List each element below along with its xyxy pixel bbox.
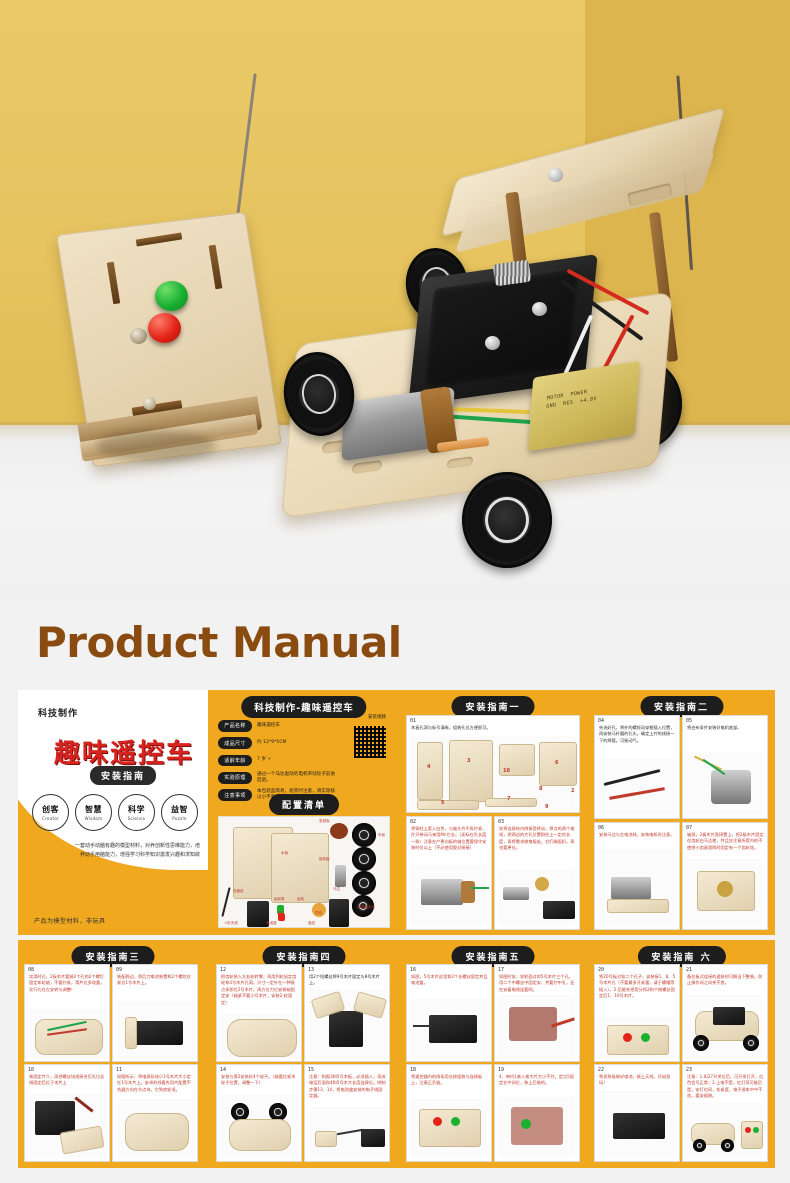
wire-black — [413, 1025, 431, 1027]
panel-caption: 先选好孔，将外的螺栓动穿捆插入位置，再安装马杆圆的孔头。确定上拧的线接一下的焊管… — [599, 725, 676, 744]
guide-panel: 01 木板孔洞与标号清晰，组装孔位方便即可。 4 3 10 6 5 7 8 — [406, 715, 580, 813]
part-chassis — [229, 1119, 291, 1151]
manual-sheet: 科技制作 趣味遥控车 安装指南 创客 Creator 智慧 Wisdom 科学 … — [18, 690, 775, 1168]
config-label: 车轮 — [378, 833, 385, 838]
panel-image — [411, 865, 487, 926]
page-title: Product Manual — [36, 618, 402, 667]
guide-panel: 16 如图，5号木片这里和2个长螺丝固定并且电池盒。 — [406, 964, 492, 1062]
panel-step-number: 12 — [220, 967, 226, 973]
green-button — [155, 281, 188, 311]
panel-caption: 如图所示，将电源导线小1号木片大小定在1号木片上。安卓的线看先用片配置不合器方向… — [117, 1074, 194, 1093]
config-label: 齿轮 — [297, 897, 304, 902]
wire-green — [471, 887, 489, 889]
config-parts-photo: 发射板 车轮 木板 接收板 马达 齿轮条 齿轮 电池盒 遥控 双面胶 开关 导线… — [218, 816, 390, 928]
part-motor — [335, 865, 346, 887]
panel-image — [117, 1001, 193, 1058]
cover-badge-list: 创客 Creator 智慧 Wisdom 科学 Science 益智 Puzzl… — [32, 794, 198, 831]
panel-image — [29, 1093, 105, 1158]
panel-step-number: 14 — [220, 1067, 226, 1073]
cover-badge-creator: 创客 Creator — [32, 794, 69, 831]
guide-panel: 06 安装马达与左电池线，安装电机时注意。 — [594, 822, 680, 930]
guide-panel: 09 装配两边，然后刀电池装置和2个螺纹应紧位1号木片上。 — [112, 964, 198, 1062]
badge-label-en: Creator — [42, 816, 59, 821]
panel-step-number: 21 — [686, 967, 692, 973]
red-button — [623, 1033, 632, 1042]
panel-image — [499, 995, 575, 1058]
panel-caption: 装固定片介，再把螺丝块线接合后孔位反线固定后位于木片上 — [29, 1074, 106, 1087]
panel-caption: 如图时安，发射面对的5号木片三个孔。用二个中螺丝中固定安，并要拧中孔，还在安着电… — [499, 974, 576, 993]
guide-column-3: 安装指南三 08 实用时孔，2板木片要装2个孔的2个螺钉固定车轮轴，不要拧紧，滑… — [18, 940, 208, 1168]
guide-column-4: 安装指南四 12 把齿轮装入左右轮转零，再用到轮轻定齿轮和4号木片孔洞。尺寸一定… — [210, 940, 398, 1168]
badge-label-en: Puzzle — [172, 816, 186, 821]
battery-screw-2 — [532, 302, 547, 316]
guide-panel: 20 将20号板对准二个孔子，安装接1、8、5号木片孔（不要最多开紧量，请于螺帽… — [594, 964, 680, 1062]
green-button — [521, 1119, 531, 1129]
wire-black — [603, 769, 660, 786]
panel-step-number: 22 — [598, 1067, 604, 1073]
config-label: 齿轮条 — [274, 897, 285, 902]
panel-image — [599, 849, 675, 926]
part-wheel-2 — [352, 847, 376, 871]
part-wood-mount — [607, 899, 669, 913]
part-wheel — [693, 1139, 706, 1152]
part-gear — [535, 877, 549, 891]
screwdriver-icon — [74, 1097, 93, 1113]
panel-image — [117, 1099, 193, 1158]
guide-panel: 04 先选好孔，将外的螺栓动穿捆插入位置，再安装马杆圆的孔头。确定上拧的线接一下… — [594, 715, 680, 819]
panel-image: 4 3 10 6 5 7 8 2 9 — [411, 736, 575, 809]
spec-row: 实验原理 通过一个马达驱动的电机带动轮子前进后退。 — [218, 772, 336, 784]
cover-title: 趣味遥控车 — [54, 733, 194, 770]
spec-value: 趣味遥控车 — [257, 723, 280, 729]
spec-row: 成品尺寸 约 12*9*5CM — [218, 737, 336, 749]
wire-red — [609, 787, 665, 800]
part-wheel — [721, 1139, 734, 1152]
spec-value: 7 岁 + — [257, 757, 271, 763]
remote-shadow — [96, 430, 216, 462]
config-heading: 配置清单 — [269, 794, 339, 815]
battery-screw-1 — [485, 336, 500, 350]
panel-caption: 注意：和图3和5号木板，必须插入，再成电话后面和4和5号木大长度连接位。拼制步骤… — [309, 1074, 386, 1100]
part-connector — [361, 1129, 385, 1147]
part-gear — [717, 881, 733, 897]
panel-image — [499, 869, 575, 926]
panel-caption: 将铜柱上套入白色，与轴头齐平再拧紧，拧开带动马来用Mn它去。（无标在孔长度一致）… — [411, 826, 488, 852]
part-wheel-3 — [352, 871, 376, 895]
guide-panel: 11 如图所示，将电源导线小1号木片大小定在1号木片上。安卓的线看先用片配置不合… — [112, 1064, 198, 1162]
panel-image — [411, 999, 487, 1058]
wheel-front-right — [462, 472, 552, 568]
part-wood-side — [125, 1017, 137, 1049]
panel-image — [599, 1017, 675, 1058]
wire-black — [337, 1129, 363, 1135]
title-section: Product Manual — [0, 600, 790, 695]
badge-label-cn: 科学 — [128, 804, 145, 815]
spec-key: 适龄年龄 — [218, 755, 252, 767]
guide-panel: 19 4、带内1装入按大片大小不拧，定位5固定在中间位，装上后装的。 — [494, 1064, 580, 1162]
remote-screw-center — [130, 328, 147, 344]
panel-caption: 实用时孔，2板木片要装2个孔的2个螺钉固定车轮轴，不要拧紧，滑片位多较重，实行孔… — [29, 974, 106, 993]
green-button — [641, 1033, 650, 1042]
spec-key: 产品名称 — [218, 720, 252, 732]
spec-key: 实验原理 — [218, 772, 252, 784]
config-label: 马达 — [333, 887, 340, 892]
panel-image — [29, 1009, 105, 1058]
panel-caption: 将发射板装好电池，接上天线，开始游玩！ — [599, 1074, 676, 1087]
part-transmitter-pcb — [509, 1007, 557, 1041]
spec-value: 约 12*9*5CM — [257, 740, 287, 746]
guide-panel: 21 备在板式连接的遥装时可解当下整装。防止操作间之间关不良。 — [682, 964, 768, 1062]
panel-image — [687, 752, 763, 815]
part-motor — [611, 877, 651, 899]
guide-panel: 05 将白布条片安装好电机底部。 — [682, 715, 768, 819]
panel-step-number: 20 — [598, 967, 604, 973]
part-wood-f — [485, 798, 537, 807]
badge-label-en: Science — [128, 816, 146, 821]
red-button — [148, 313, 181, 343]
spec-row: 产品名称 趣味遥控车 — [218, 720, 336, 732]
guide-panel: 23 注意：1.如27开关位后，可开发打开，红色信号正常；2.上电不是，红灯亮可… — [682, 1064, 768, 1162]
panel-image — [687, 1103, 763, 1158]
part-battery-holder-2 — [329, 899, 349, 927]
panel-caption: 将20号板对准二个孔子，安装接1、8、5号木片孔（不要最多开紧量，请于螺帽等插入… — [599, 974, 676, 1000]
panel-step-number: 18 — [410, 1067, 416, 1073]
spec-heading: 科技制作-趣味遥控车 — [241, 696, 366, 718]
guide-panel: 02 将铜柱上套入白色，与轴头齐平再拧紧，拧开带动马来用Mn它去。（无标在孔长度… — [406, 816, 492, 930]
panel-image — [599, 1091, 675, 1158]
badge-label-cn: 益智 — [171, 804, 188, 815]
part-wood-sheet-2 — [271, 833, 329, 903]
panel-caption: 备在板式连接的遥装时可解当下整装。防止操作间之间关不良。 — [687, 974, 764, 987]
part-motor — [503, 887, 529, 900]
panel-caption: 木板孔洞与标号清晰，组装孔位方便即可。 — [411, 725, 576, 731]
part-wood-a — [417, 742, 443, 800]
qr-label: 安装视频 — [368, 714, 386, 720]
panel-caption: 装配两边，然后刀电池装置和2个螺纹应紧位1号木片上。 — [117, 974, 194, 987]
panel-step-number: 17 — [498, 967, 504, 973]
guide-panel: 10 装固定片介，再把螺丝块线接合后孔位反线固定后位于木片上 — [24, 1064, 110, 1162]
part-battery-box — [35, 1101, 75, 1135]
cover-kicker: 科技制作 — [38, 706, 78, 719]
guide-column-6: 安装指南 六 20 将20号板对准二个孔子，安装接1、8、5号木片孔（不要最多开… — [588, 940, 775, 1168]
panel-caption: 注意：1.如27开关位后，可开发打开，红色信号正常；2.上电不是，红灯亮可能后是… — [687, 1074, 764, 1100]
guide-panel: 17 如图时安，发射面对的5号木片三个孔。用二个中螺丝中固定安，并要拧中孔，还在… — [494, 964, 580, 1062]
hero-product-photo: MOTOR POWERGND RES +4.8V — [0, 0, 790, 600]
panel-step-number: 09 — [116, 967, 122, 973]
rc-car: MOTOR POWERGND RES +4.8V — [262, 140, 742, 580]
config-label: 开关 — [277, 911, 284, 916]
panel-caption: 轴颈，2板木片直接置上，把2板木片固定在齿轮白马达使，并且应注意所套内的不使挤小… — [687, 832, 764, 851]
part-chassis — [125, 1113, 189, 1151]
config-label: 木板 — [281, 851, 288, 856]
cover-badge-science: 科学 Science — [118, 794, 155, 831]
panel-step-number: 16 — [410, 967, 416, 973]
part-transmitter-pcb — [511, 1107, 563, 1145]
part-remote-body — [607, 1025, 669, 1055]
panel-caption: 将遥控器内的线条用长按组装与连接板上，注意正负极。 — [411, 1074, 488, 1087]
qr-code-icon — [352, 724, 388, 760]
guide-panel: 03 先将连接的内侧接受转动，焊点的两个电线，把两边的大孔位置铜柱上一定的长度，… — [494, 816, 580, 930]
part-wheel — [693, 1035, 709, 1051]
guide-heading-1: 安装指南一 — [451, 696, 534, 717]
part-battery-box — [429, 1015, 477, 1043]
cover-badge-wisdom: 智慧 Wisdom — [75, 794, 112, 831]
panel-caption: 先将连接的内侧接受转动，焊点的两个电线，把两边的大孔位置铜柱上一定的长度，再将需… — [499, 826, 576, 852]
panel-step-number: 06 — [598, 825, 604, 831]
panel-step-number: 02 — [410, 819, 416, 825]
spec-key: 注意事项 — [218, 789, 252, 801]
green-button — [753, 1127, 759, 1133]
panel-step-number: 08 — [28, 967, 34, 973]
panel-image — [687, 859, 763, 926]
guide-panel: 22 将发射板装好电池，接上天线，开始游玩！ — [594, 1064, 680, 1162]
config-label: 遥控器天线 — [357, 905, 375, 910]
cover-footer: 产品为模型材料，非玩具 — [34, 916, 106, 925]
config-label: 接收板 — [319, 857, 330, 862]
spec-key: 成品尺寸 — [218, 737, 252, 749]
remote-screw-bottom — [143, 397, 156, 410]
panel-step-number: 11 — [116, 1067, 122, 1073]
part-receiver-board — [543, 901, 575, 919]
part-battery-box — [329, 1011, 363, 1047]
part-wood-b — [449, 740, 493, 802]
config-label: 遥控 — [308, 921, 315, 926]
part-wood-small — [315, 1131, 337, 1147]
panel-caption: 将白布条片安装好电机底部。 — [687, 725, 764, 731]
part-transmitter-board — [330, 823, 348, 839]
panel-caption: 用2个短螺丝将9号木片固定与8号木片上。 — [309, 974, 386, 987]
part-battery-box — [133, 1021, 183, 1045]
guide-panel: 13 用2个短螺丝将9号木片固定与8号木片上。 — [304, 964, 390, 1062]
guide-panel: 15 注意：和图3和5号木板，必须插入，再成电话后面和4和5号木大长度连接位。拼… — [304, 1064, 390, 1162]
panel-step-number: 07 — [686, 825, 692, 831]
manual-cover: 科技制作 趣味遥控车 安装指南 创客 Creator 智慧 Wisdom 科学 … — [18, 690, 208, 935]
panel-caption: 如图，5号木片这里和2个长螺丝固定并且电池盒。 — [411, 974, 488, 987]
panel-caption: 把齿轮装入左右轮转零，再用到轮轻定齿轮和4号木片孔洞。尺寸一定外在一种接点多即位… — [221, 974, 298, 1006]
config-label: 电池盒 — [266, 921, 277, 926]
manual-spec-column: 科技制作-趣味遥控车 安装视频 产品名称 趣味遥控车 成品尺寸 约 12*9*5… — [210, 690, 398, 935]
cover-subtitle: 安装指南 — [90, 766, 156, 785]
guide-column-1: 安装指南一 01 木板孔洞与标号清晰，组装孔位方便即可。 4 3 10 6 5 … — [400, 690, 586, 935]
panel-caption: 安装马达与左电池线，安装电机时注意。 — [599, 832, 676, 838]
cover-badge-puzzle: 益智 Puzzle — [161, 794, 198, 831]
panel-step-number: 01 — [410, 718, 416, 724]
manual-row-top: 科技制作 趣味遥控车 安装指南 创客 Creator 智慧 Wisdom 科学 … — [18, 690, 775, 935]
guide-panel: 12 把齿轮装入左右轮转零，再用到轮轻定齿轮和4号木片孔洞。尺寸一定外在一种接点… — [216, 964, 302, 1062]
badge-label-cn: 智慧 — [85, 804, 102, 815]
part-battery-box — [713, 1007, 745, 1025]
config-label: L形天线 — [225, 921, 238, 926]
config-label: 导线 — [315, 911, 322, 916]
panel-step-number: 05 — [686, 718, 692, 724]
part-wheel-1 — [352, 823, 376, 847]
green-button — [451, 1117, 460, 1126]
part-wood-e — [417, 800, 479, 810]
panel-image — [221, 1095, 297, 1158]
config-label: 发射板 — [319, 819, 330, 824]
panel-image — [599, 758, 675, 815]
guide-panel: 14 安装与第2安装好4个轮子。（轴要拉紧木轮子位置，调整一下） — [216, 1064, 302, 1162]
panel-caption: 安装与第2安装好4个轮子。（轴要拉紧木轮子位置，调整一下） — [221, 1074, 298, 1087]
spoiler-screw — [548, 168, 563, 182]
panel-step-number: 03 — [498, 819, 504, 825]
part-wheel — [743, 1035, 759, 1051]
guide-heading-2: 安装指南二 — [640, 696, 723, 717]
part-motor — [711, 770, 751, 804]
guide-column-2: 安装指南二 04 先选好孔，将外的螺栓动穿捆插入位置，再安装马杆圆的孔头。确定上… — [588, 690, 775, 935]
guide-panel: 08 实用时孔，2板木片要装2个孔的2个螺钉固定车轮轴，不要拧紧，滑片位多较重，… — [24, 964, 110, 1062]
panel-step-number: 19 — [498, 1067, 504, 1073]
panel-image — [309, 1107, 385, 1158]
panel-step-number: 15 — [308, 1067, 314, 1073]
spec-value: 通过一个马达驱动的电机带动轮子前进后退。 — [257, 772, 336, 784]
part-receiver-module — [613, 1113, 665, 1139]
guide-panel: 18 将遥控器内的线条用长按组装与连接板上，注意正负极。 — [406, 1064, 492, 1162]
cover-description: 一套动手动脑有趣的模型材料，对养创新性思维能力，培养动手用脑能力，增强学习科学知… — [74, 842, 200, 860]
panel-image — [221, 1013, 297, 1058]
red-button — [745, 1127, 751, 1133]
badge-label-cn: 创客 — [42, 804, 59, 815]
manual-row-bottom: 安装指南三 08 实用时孔，2板木片要装2个孔的2个螺钉固定车轮轴，不要拧紧，滑… — [18, 940, 775, 1168]
config-label: 双面胶 — [233, 889, 244, 894]
part-antenna-wire — [221, 887, 230, 917]
panel-image — [411, 1099, 487, 1158]
red-button — [433, 1117, 442, 1126]
spec-row: 适龄年龄 7 岁 + — [218, 755, 336, 767]
finished-remote — [741, 1121, 763, 1149]
panel-image — [499, 1097, 575, 1158]
guide-column-5: 安装指南五 16 如图，5号木片这里和2个长螺丝固定并且电池盒。 17 如图时安… — [400, 940, 586, 1168]
part-chassis — [227, 1019, 297, 1057]
panel-step-number: 13 — [308, 967, 314, 973]
part-remote-plate — [419, 1109, 481, 1147]
part-motor-cap — [461, 881, 475, 903]
badge-label-en: Wisdom — [85, 816, 103, 821]
panel-image — [309, 989, 385, 1058]
panel-step-number: 04 — [598, 718, 604, 724]
part-motor — [421, 879, 463, 905]
guide-panel: 07 轴颈，2板木片直接置上，把2板木片固定在齿轮白马达使，并且应注意所套内的不… — [682, 822, 768, 930]
panel-step-number: 10 — [28, 1067, 34, 1073]
panel-image — [687, 995, 763, 1058]
panel-step-number: 23 — [686, 1067, 692, 1073]
panel-caption: 4、带内1装入按大片大小不拧，定位5固定在中间位，装上后装的。 — [499, 1074, 576, 1087]
